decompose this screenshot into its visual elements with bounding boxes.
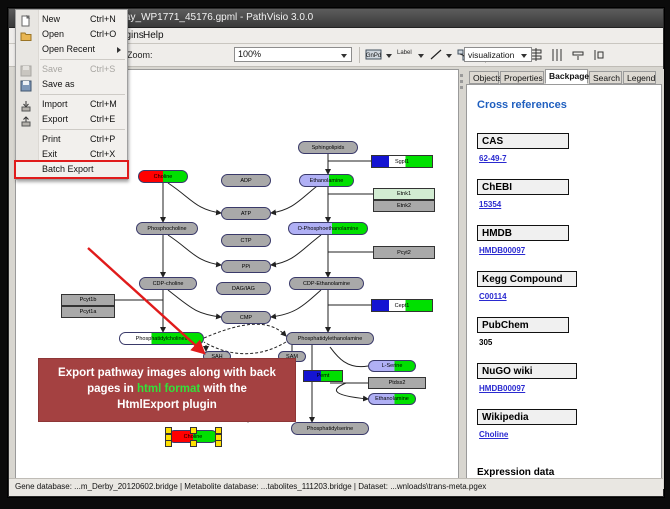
- toolbar-separator: [359, 47, 360, 63]
- geneproduct-tool-button[interactable]: GnPd: [365, 47, 383, 63]
- application-window: Mm_Kennedy_pathway_WP1771_45176.gpml - P…: [8, 8, 664, 497]
- pathway-node-phosphatidylethanolamine[interactable]: Phosphatidylethanolamine: [286, 332, 374, 345]
- menu-item-accelerator: Ctrl+E: [90, 114, 115, 124]
- zoom-label: Zoom:: [127, 50, 153, 60]
- label-dropdown-arrow[interactable]: [417, 47, 425, 63]
- xref-value-pubchem: 305: [479, 338, 492, 347]
- visualization-select[interactable]: visualization: [464, 47, 532, 62]
- pathway-gene-sgpl1[interactable]: Sgpl1: [371, 155, 433, 168]
- menu-item-accelerator: Ctrl+X: [90, 149, 115, 159]
- callout-line2-post: with the: [200, 383, 247, 395]
- pathway-gene-pcyt1a[interactable]: Pcyt1a: [61, 306, 115, 318]
- menu-item-accelerator: Ctrl+S: [90, 64, 115, 74]
- pathway-gene-etnk1[interactable]: Etnk1: [373, 188, 435, 200]
- menu-item-label: Import: [42, 99, 68, 109]
- stack-icon[interactable]: [571, 47, 585, 63]
- chevron-down-icon: [341, 54, 347, 58]
- gene-label: Pemt: [317, 373, 330, 379]
- selection-handle[interactable]: [165, 440, 172, 447]
- xref-header-hmdb: HMDB: [477, 225, 569, 241]
- visualization-value: visualization: [468, 50, 514, 60]
- menu-item-label: New: [42, 14, 60, 24]
- node-label: L-Serine: [382, 363, 403, 369]
- pathway-gene-etnk2[interactable]: Etnk2: [373, 200, 435, 212]
- node-label: Ethanolamine: [375, 396, 409, 402]
- menu-item-label: Open Recent: [42, 44, 95, 54]
- node-label: Sphingolipids: [312, 145, 345, 151]
- tab-search[interactable]: Search: [589, 71, 622, 84]
- distribute-icon[interactable]: [550, 47, 564, 63]
- node-label: O-Phosphoethanolamine: [298, 226, 359, 232]
- label-tool-button[interactable]: Label: [397, 50, 412, 56]
- node-label: Phosphatidylethanolamine: [298, 336, 363, 342]
- xref-value-kegg-compound[interactable]: C00114: [479, 292, 507, 301]
- node-label: ATP: [241, 211, 251, 217]
- pathway-node-ethanolamine[interactable]: Ethanolamine: [368, 393, 416, 405]
- menu-item-label: Exit: [42, 149, 57, 159]
- selection-handle[interactable]: [190, 440, 197, 447]
- file-menu-item-print[interactable]: PrintCtrl+P: [16, 132, 127, 147]
- xref-header-pubchem: PubChem: [477, 317, 569, 333]
- menu-item-label: Print: [42, 134, 61, 144]
- node-label: Phosphatidylcholines: [136, 336, 188, 342]
- file-menu-item-import[interactable]: ImportCtrl+M: [16, 97, 127, 112]
- callout-line2-pre: pages in: [87, 383, 137, 395]
- menu-separator: [40, 94, 125, 95]
- menu-item-label: Save: [42, 64, 63, 74]
- file-menu-item-exit[interactable]: ExitCtrl+X: [16, 147, 127, 162]
- export-icon: [20, 114, 32, 126]
- gene-label: Ptdss2: [389, 380, 406, 386]
- save-as-icon: [20, 79, 32, 91]
- panel-splitter[interactable]: [459, 69, 465, 489]
- pathway-node-phosphatidylserine[interactable]: Phosphatidylserine: [291, 422, 369, 435]
- annotation-callout: Export pathway images along with back pa…: [38, 358, 296, 422]
- node-label: DAG/IAG: [232, 286, 255, 292]
- tab-properties[interactable]: Properties: [500, 71, 544, 84]
- file-menu-item-new[interactable]: NewCtrl+N: [16, 12, 127, 27]
- line-tool-button[interactable]: [429, 47, 443, 63]
- side-panel: ObjectsPropertiesBackpageSearchLegend Cr…: [466, 69, 664, 489]
- expression-data-heading: Expression data: [477, 467, 554, 478]
- backpage-panel: Cross references CAS62-49-7ChEBI15354HMD…: [466, 84, 662, 487]
- pathway-node-ctp[interactable]: CTP: [221, 234, 271, 247]
- menu-item-accelerator: Ctrl+O: [90, 29, 116, 39]
- open-folder-icon: [20, 29, 32, 41]
- tab-legend[interactable]: Legend: [623, 71, 656, 84]
- file-menu-item-open[interactable]: OpenCtrl+O: [16, 27, 127, 42]
- menu-item-label: Open: [42, 29, 64, 39]
- xref-header-kegg-compound: Kegg Compound: [477, 271, 577, 287]
- node-label: ADP: [240, 178, 251, 184]
- svg-text:GnPd: GnPd: [366, 53, 381, 59]
- pathway-node-l-serine[interactable]: L-Serine: [368, 360, 416, 372]
- tab-objects[interactable]: Objects: [469, 71, 499, 84]
- pathway-node-phosphatidylcholines[interactable]: Phosphatidylcholines: [119, 332, 204, 345]
- node-label: Ethanolamine: [310, 178, 344, 184]
- gene-label: Etnk1: [397, 191, 411, 197]
- node-label: Phosphatidylserine: [307, 426, 353, 432]
- submenu-arrow-icon: [117, 47, 121, 53]
- new-file-icon: [20, 14, 32, 26]
- xref-header-chebi: ChEBI: [477, 179, 569, 195]
- status-bar: Gene database: ...m_Derby_20120602.bridg…: [9, 478, 663, 496]
- node-label: CMP: [240, 315, 252, 321]
- callout-line2-green: html format: [137, 383, 200, 395]
- menu-item-accelerator: Ctrl+M: [90, 99, 117, 109]
- selection-handle[interactable]: [190, 427, 197, 434]
- xref-header-wikipedia: Wikipedia: [477, 409, 577, 425]
- gene-label: Etnk2: [397, 203, 411, 209]
- pathway-node-sphingolipids[interactable]: Sphingolipids: [298, 141, 358, 154]
- menu-item-label: Save as: [42, 79, 75, 89]
- tab-backpage[interactable]: Backpage: [545, 69, 588, 84]
- callout-line1: Export pathway images along with back: [58, 367, 276, 379]
- menu-item-accelerator: Ctrl+P: [90, 134, 115, 144]
- callout-line3: HtmlExport plugin: [117, 399, 217, 411]
- save-disk-icon: [20, 64, 32, 76]
- chevron-down-icon: [521, 54, 527, 58]
- screenshot-root: Mm_Kennedy_pathway_WP1771_45176.gpml - P…: [0, 0, 670, 509]
- menu-item-label: Batch Export: [42, 164, 94, 174]
- xref-value-hmdb[interactable]: HMDB00097: [479, 246, 525, 255]
- pathway-node-cdp-ethanolamine[interactable]: CDP-Ethanolamine: [289, 277, 364, 290]
- node-label: CTP: [241, 238, 252, 244]
- pathway-node-adp[interactable]: ADP: [221, 174, 271, 187]
- xref-header-cas: CAS: [477, 133, 569, 149]
- pathway-node-choline[interactable]: Choline: [138, 170, 188, 183]
- pathway-node-phosphocholine[interactable]: Phosphocholine: [136, 222, 198, 235]
- node-label: PPi: [242, 264, 251, 270]
- file-menu-item-open-recent[interactable]: Open Recent: [16, 42, 127, 57]
- status-text: Gene database: ...m_Derby_20120602.bridg…: [15, 482, 486, 491]
- pathway-node-dag-iag[interactable]: DAG/IAG: [216, 282, 271, 295]
- zoom-value: 100%: [238, 49, 261, 59]
- side-panel-tabs: ObjectsPropertiesBackpageSearchLegend: [466, 69, 664, 84]
- pathway-gene-cept1[interactable]: Cept1: [371, 299, 433, 312]
- zoom-select[interactable]: 100%: [234, 47, 352, 62]
- pathway-node-o-phosphoethanolamine[interactable]: O-Phosphoethanolamine: [288, 222, 368, 235]
- cross-references-heading: Cross references: [477, 99, 567, 111]
- node-label: Phosphocholine: [147, 226, 186, 232]
- line-dropdown-arrow[interactable]: [445, 47, 453, 63]
- callout-text: Export pathway images along with back pa…: [45, 365, 289, 413]
- xref-value-nugo-wiki[interactable]: HMDB00097: [479, 384, 525, 393]
- file-menu-item-export[interactable]: ExportCtrl+E: [16, 112, 127, 127]
- menu-item-accelerator: Ctrl+N: [90, 14, 116, 24]
- xref-value-chebi[interactable]: 15354: [479, 200, 501, 209]
- file-menu-popup[interactable]: NewCtrl+NOpenCtrl+OOpen RecentSaveCtrl+S…: [15, 9, 128, 180]
- node-label: CDP-choline: [153, 281, 184, 287]
- pathway-node-ppi[interactable]: PPi: [221, 260, 271, 273]
- pathway-node-ethanolamine[interactable]: Ethanolamine: [299, 174, 354, 187]
- pathway-gene-pcyt2[interactable]: Pcyt2: [373, 246, 435, 259]
- gene-label: Cept1: [395, 303, 410, 309]
- pathway-node-atp[interactable]: ATP: [221, 207, 271, 220]
- file-menu-item-save[interactable]: SaveCtrl+S: [16, 62, 127, 77]
- menu-separator: [40, 59, 125, 60]
- file-menu-item-batch-export[interactable]: Batch Export: [16, 162, 127, 177]
- xref-header-nugo-wiki: NuGO wiki: [477, 363, 577, 379]
- pathway-gene-pcyt1b[interactable]: Pcyt1b: [61, 294, 115, 306]
- menu-separator: [40, 129, 125, 130]
- node-label: Choline: [154, 174, 173, 180]
- import-icon: [20, 99, 32, 111]
- group-icon[interactable]: [592, 47, 606, 63]
- gene-label: Pcyt1a: [80, 309, 97, 315]
- pathway-node-cdp-choline[interactable]: CDP-choline: [139, 277, 197, 290]
- pathway-node-cmp[interactable]: CMP: [221, 311, 271, 324]
- file-menu-item-save-as[interactable]: Save as: [16, 77, 127, 92]
- menu-item-label: Export: [42, 114, 68, 124]
- gene-label: Pcyt1b: [80, 297, 97, 303]
- selection-handle[interactable]: [215, 440, 222, 447]
- menu-help[interactable]: Help: [140, 30, 167, 42]
- xref-value-cas[interactable]: 62-49-7: [479, 154, 507, 163]
- node-label: Choline: [184, 434, 203, 440]
- pathway-gene-ptdss2[interactable]: Ptdss2: [368, 377, 426, 389]
- gene-label: Pcyt2: [397, 250, 411, 256]
- node-label: CDP-Ethanolamine: [303, 281, 350, 287]
- xref-value-wikipedia[interactable]: Choline: [479, 430, 508, 439]
- gene-label: Sgpl1: [395, 159, 409, 165]
- geneproduct-dropdown-arrow[interactable]: [385, 47, 393, 63]
- pathway-gene-pemt[interactable]: Pemt: [303, 370, 343, 382]
